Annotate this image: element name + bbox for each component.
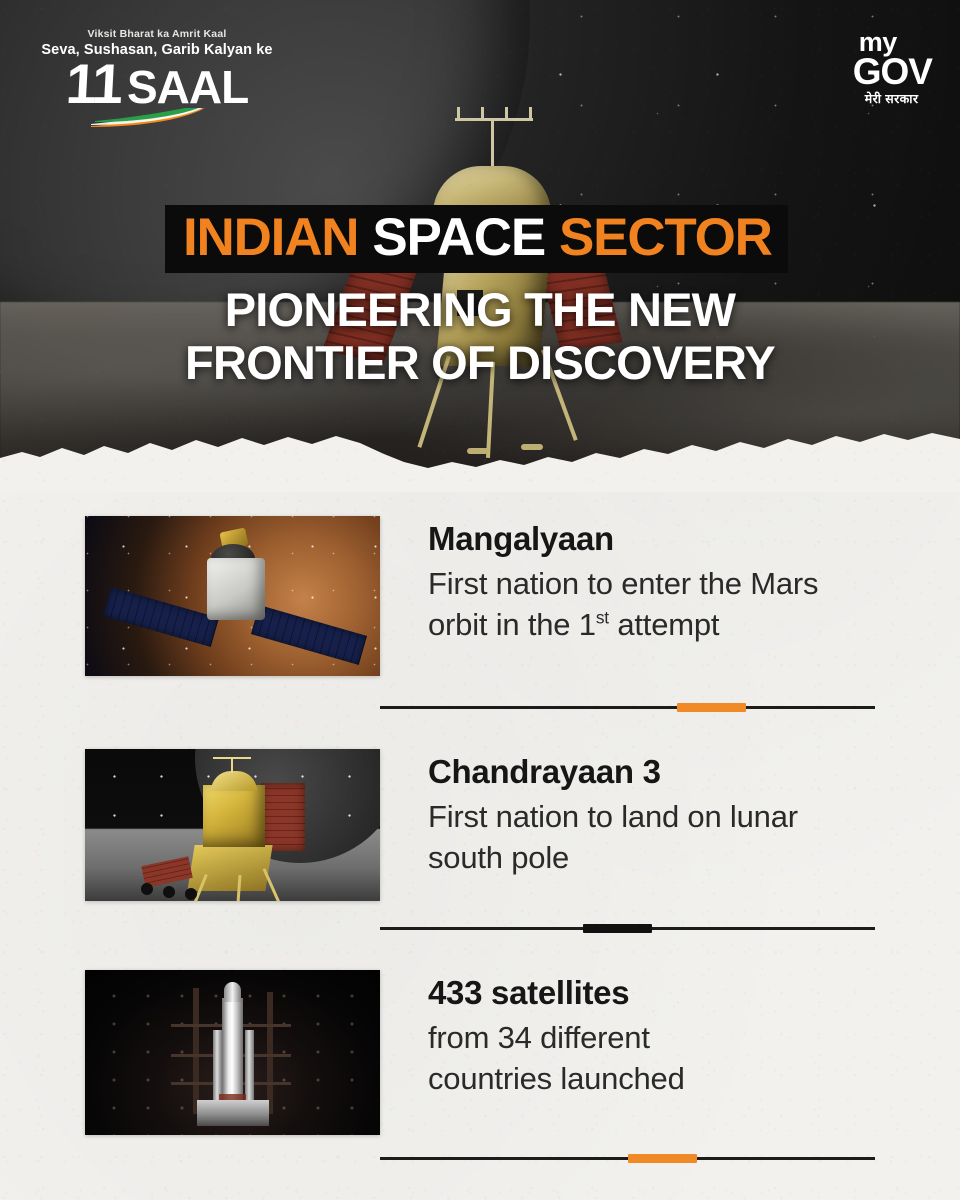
- divider-accent: [628, 1154, 697, 1163]
- list-item: Chandrayaan 3 First nation to land on lu…: [0, 749, 960, 930]
- torn-paper-edge: [0, 424, 960, 492]
- rocket-booster-right: [245, 1030, 254, 1106]
- headline-word-space: SPACE: [372, 208, 545, 267]
- tricolor-swoosh-icon: [89, 108, 249, 128]
- headline-block: INDIANSPACESECTOR PIONEERING THE NEW FRO…: [0, 205, 960, 389]
- chandrayaan-text: Chandrayaan 3 First nation to land on lu…: [428, 749, 875, 879]
- item-divider: [380, 927, 875, 930]
- item-title: Mangalyaan: [428, 520, 875, 558]
- lander-body: [203, 785, 265, 847]
- logo-bignum-row: 11 SAAL: [34, 58, 280, 110]
- logo-mygov: my GOV मेरी सरकार: [853, 30, 932, 107]
- logo-tagline: Viksit Bharat ka Amrit Kaal: [34, 28, 280, 41]
- lander-mast: [231, 757, 233, 773]
- item-divider: [380, 1157, 875, 1160]
- item-description: First nation to enter the Mars orbit in …: [428, 564, 875, 646]
- item-title: 433 satellites: [428, 974, 875, 1012]
- rocket-nose-cone: [224, 982, 241, 1002]
- logo-11-saal: Viksit Bharat ka Amrit Kaal Seva, Sushas…: [34, 28, 280, 133]
- headline-word-indian: INDIAN: [183, 208, 358, 267]
- headline-sub-line-1: PIONEERING THE NEW: [0, 284, 960, 337]
- fact-list: Mangalyaan First nation to enter the Mar…: [0, 516, 960, 1160]
- divider-accent: [677, 703, 746, 712]
- mars-orbiter-art: [85, 516, 380, 676]
- hero-banner: Viksit Bharat ka Amrit Kaal Seva, Sushas…: [0, 0, 960, 492]
- lunar-lander-art: [85, 749, 380, 901]
- lander-antenna-tooth: [457, 107, 460, 119]
- lander-antenna-tooth: [481, 107, 484, 119]
- item-title: Chandrayaan 3: [428, 753, 875, 791]
- launch-tower-left: [193, 988, 199, 1114]
- rover-wheel: [163, 886, 175, 898]
- list-item: 433 satellites from 34 different countri…: [0, 970, 960, 1160]
- headline-word-sector: SECTOR: [559, 208, 772, 267]
- lander-red-panel: [261, 783, 305, 851]
- headline-band: INDIANSPACESECTOR: [165, 205, 788, 273]
- chandrayaan-thumbnail: [85, 749, 380, 901]
- rover-wheel: [185, 888, 197, 900]
- mygov-hindi-text: मेरी सरकार: [865, 90, 932, 107]
- item-description: from 34 different countries launched: [428, 1018, 768, 1100]
- headline-sub-line-2: FRONTIER OF DISCOVERY: [0, 337, 960, 390]
- lander-antenna-tooth: [505, 107, 508, 119]
- mygov-gov-text: GOV: [853, 54, 932, 89]
- satellites-text: 433 satellites from 34 different countri…: [428, 970, 875, 1100]
- mangalyaan-thumbnail: [85, 516, 380, 676]
- rover-wheel: [141, 883, 153, 895]
- infographic-page: Viksit Bharat ka Amrit Kaal Seva, Sushas…: [0, 0, 960, 1200]
- orbiter-body: [207, 558, 265, 620]
- lander-antenna-bar: [455, 118, 533, 121]
- launch-pedestal: [197, 1100, 269, 1126]
- divider-accent: [583, 924, 652, 933]
- mangalyaan-text: Mangalyaan First nation to enter the Mar…: [428, 516, 875, 646]
- item-divider: [380, 706, 875, 709]
- desc-superscript: st: [596, 608, 609, 628]
- lander-mast: [491, 118, 494, 170]
- launch-tower-right: [267, 992, 273, 1114]
- item-description: First nation to land on lunar south pole: [428, 797, 808, 879]
- desc-part-2: attempt: [609, 607, 719, 642]
- rocket-launch-art: [85, 970, 380, 1135]
- lander-antenna-tooth: [529, 107, 532, 119]
- logo-number-11: 11: [64, 58, 122, 110]
- headline-subtitle: PIONEERING THE NEW FRONTIER OF DISCOVERY: [0, 284, 960, 389]
- list-item: Mangalyaan First nation to enter the Mar…: [0, 516, 960, 709]
- rocket-body: [222, 998, 243, 1104]
- logo-word-saal: SAAL: [127, 66, 248, 110]
- satellites-thumbnail: [85, 970, 380, 1135]
